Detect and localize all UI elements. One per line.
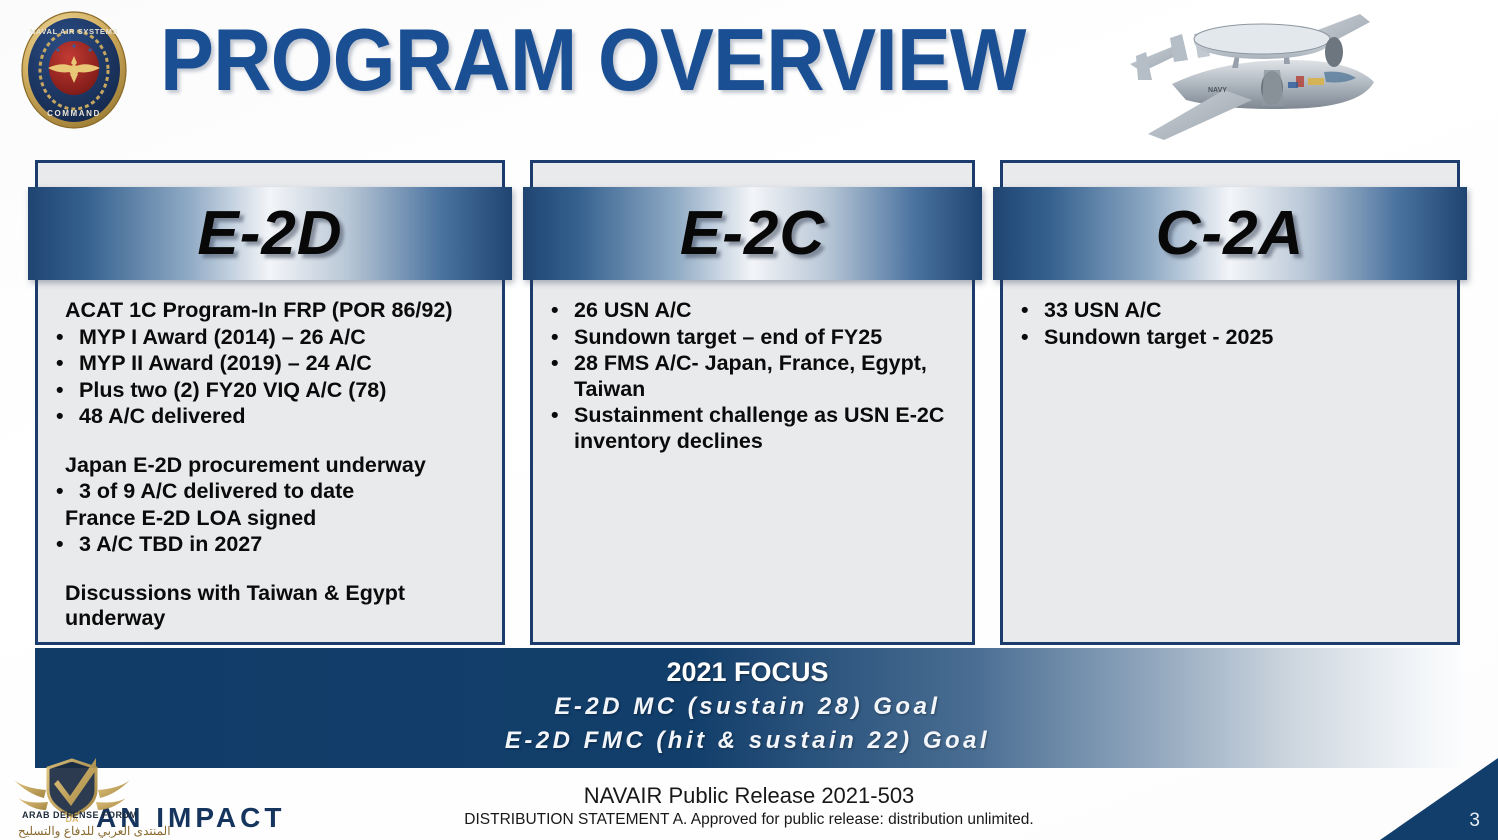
bullet-item: • 3 A/C TBD in 2027 (52, 532, 488, 558)
focus-banner-line-2: E-2D FMC (hit & sustain 22) Goal (35, 724, 1460, 758)
bullet-item: • 3 of 9 A/C delivered to date (52, 479, 488, 505)
bullet-item: • 48 A/C delivered (52, 404, 488, 430)
svg-text:NAVY: NAVY (1208, 87, 1227, 94)
text-line: Discussions with Taiwan & Egypt underway (52, 581, 488, 632)
navair-seal-icon: NAVAL AIR SYSTEMS COMMAND (18, 8, 130, 132)
svg-text:COMMAND: COMMAND (47, 109, 101, 118)
bullet-glyph: • (52, 378, 79, 404)
column-body-e2c: • 26 USN A/C • Sundown target – end of F… (533, 288, 972, 455)
column-title: C-2A (1156, 198, 1305, 269)
bullet-item: • Plus two (2) FY20 VIQ A/C (78) (52, 378, 488, 404)
text-line: ACAT 1C Program-In FRP (POR 86/92) (52, 298, 488, 324)
bullet-glyph: • (1017, 298, 1044, 324)
bullet-item: • MYP II Award (2019) – 24 A/C (52, 351, 488, 377)
bullet-glyph: • (52, 325, 79, 351)
focus-banner-line-1: E-2D MC (sustain 28) Goal (35, 690, 1460, 724)
slide-program-overview: NAVAL AIR SYSTEMS COMMAND PROGRAM OVERVI… (0, 0, 1498, 840)
bullet-glyph: • (547, 403, 574, 454)
watermark-english-label: ARAB DEFENSE FORUM (22, 810, 138, 820)
column-title: E-2D (197, 198, 342, 269)
bullet-item: • Sundown target – end of FY25 (547, 325, 958, 351)
program-columns: E-2D ACAT 1C Program-In FRP (POR 86/92) … (0, 160, 1498, 645)
bullet-glyph: • (52, 404, 79, 430)
column-title: E-2C (680, 198, 825, 269)
bullet-glyph: • (547, 298, 574, 324)
spacer (52, 431, 488, 453)
svg-text:NAVAL AIR SYSTEMS: NAVAL AIR SYSTEMS (30, 27, 118, 36)
bullet-item: • Sundown target - 2025 (1017, 325, 1443, 351)
bullet-item: • Sustainment challenge as USN E-2C inve… (547, 403, 958, 454)
e2d-hawkeye-aircraft-photo: NAVY (1112, 8, 1402, 148)
focus-banner: 2021 FOCUS E-2D MC (sustain 28) Goal E-2… (35, 648, 1460, 768)
text-line: Japan E-2D procurement underway (52, 453, 488, 479)
bullet-glyph: • (1017, 325, 1044, 351)
text-line: France E-2D LOA signed (52, 506, 488, 532)
spacer (52, 559, 488, 581)
column-header-e2c: E-2C (523, 187, 982, 280)
column-header-e2d: E-2D (28, 187, 512, 280)
page-title: PROGRAM OVERVIEW (160, 12, 1025, 108)
bullet-item: • MYP I Award (2014) – 26 A/C (52, 325, 488, 351)
bullet-item: • 28 FMS A/C- Japan, France, Egypt, Taiw… (547, 351, 958, 402)
bullet-glyph: • (52, 351, 79, 377)
page-number: 3 (1469, 810, 1480, 832)
bullet-glyph: • (547, 325, 574, 351)
focus-banner-title: 2021 FOCUS (35, 654, 1460, 690)
column-body-c2a: • 33 USN A/C • Sundown target - 2025 (1003, 288, 1457, 351)
bullet-glyph: • (547, 351, 574, 402)
column-header-c2a: C-2A (993, 187, 1467, 280)
column-c2a: C-2A • 33 USN A/C • Sundown target - 202… (1000, 160, 1460, 645)
page-corner-decoration (1380, 758, 1498, 840)
column-body-e2d: ACAT 1C Program-In FRP (POR 86/92) • MYP… (38, 288, 502, 633)
watermark-arabic-label: المنتدى العربي للدفاع والتسليح (18, 824, 171, 838)
bullet-item: • 26 USN A/C (547, 298, 958, 324)
column-e2c: E-2C • 26 USN A/C • Sundown target – end… (530, 160, 975, 645)
bullet-glyph: • (52, 532, 79, 558)
bullet-item: • 33 USN A/C (1017, 298, 1443, 324)
bullet-glyph: • (52, 479, 79, 505)
column-e2d: E-2D ACAT 1C Program-In FRP (POR 86/92) … (35, 160, 505, 645)
